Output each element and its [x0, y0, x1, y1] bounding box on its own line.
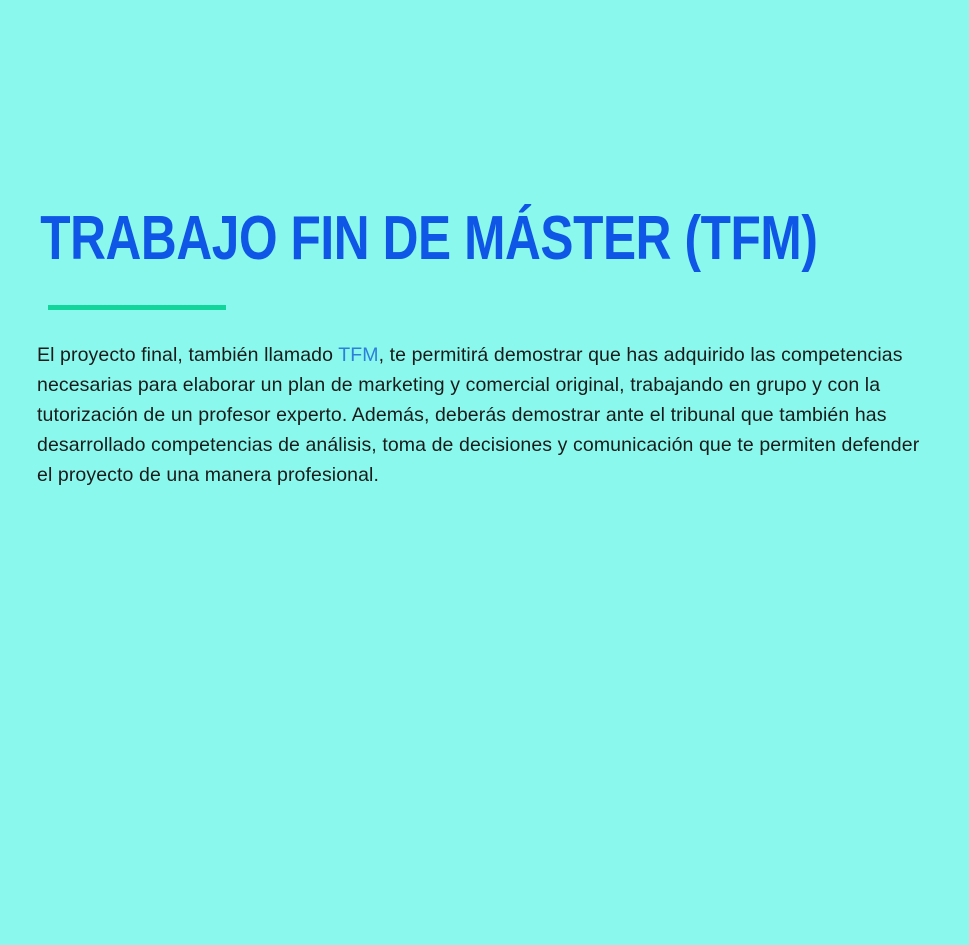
page-title: TRABAJO FIN DE MÁSTER (TFM): [37, 205, 757, 273]
content-block: TRABAJO FIN DE MÁSTER (TFM) El proyecto …: [37, 205, 937, 490]
body-text-before-link: El proyecto final, también llamado: [37, 344, 338, 366]
tfm-link[interactable]: TFM: [338, 344, 378, 366]
page-root: TRABAJO FIN DE MÁSTER (TFM) El proyecto …: [0, 0, 969, 945]
body-paragraph: El proyecto final, también llamado TFM, …: [37, 310, 925, 490]
